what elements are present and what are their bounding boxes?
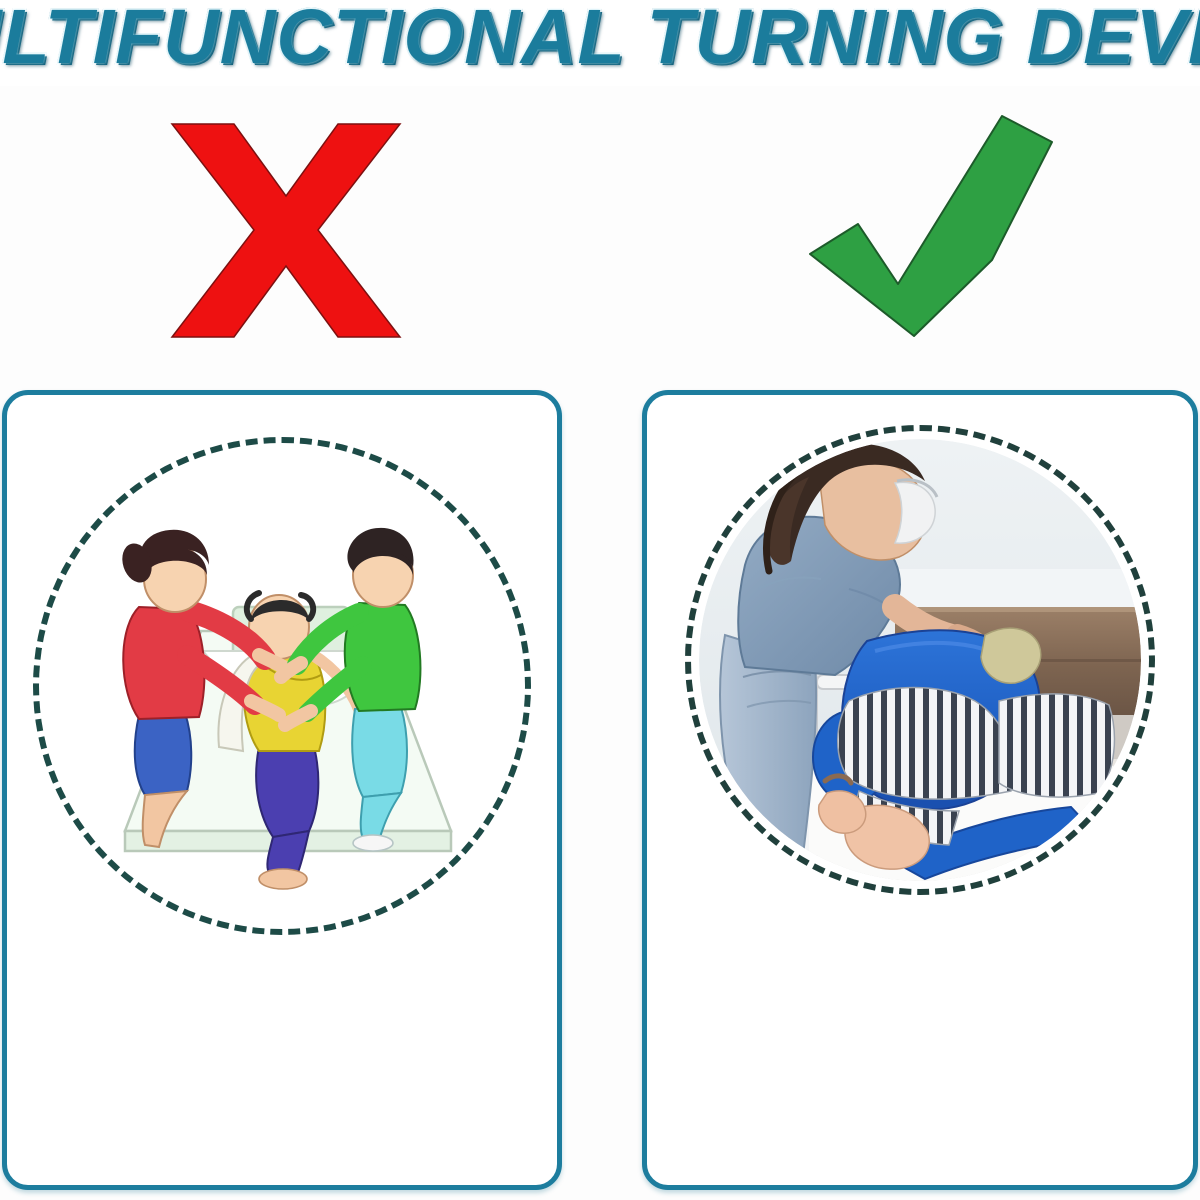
manual-turning-illustration	[83, 479, 483, 891]
panel-bare-hands: Turn Over With Bare Hands: Difficulty Tu…	[2, 390, 562, 1190]
x-icon	[172, 124, 400, 337]
turning-pad-photo	[699, 439, 1141, 881]
page-title-text: MULTIFUNCTIONAL TURNING DEVICE	[0, 0, 1200, 80]
green-check-mark	[806, 108, 1056, 340]
title-banner: MULTIFUNCTIONAL TURNING DEVICE	[0, 0, 1200, 86]
panel-turning-pad: Turning Over The Pad: Simple Operation, …	[642, 390, 1198, 1190]
page-title: MULTIFUNCTIONAL TURNING DEVICE	[0, 0, 1200, 78]
red-x-mark	[168, 118, 404, 343]
check-icon	[810, 116, 1052, 336]
infographic-canvas: MULTIFUNCTIONAL TURNING DEVICE	[0, 0, 1200, 1200]
photo-container-right	[685, 425, 1155, 895]
illustration-container-left	[33, 437, 531, 935]
